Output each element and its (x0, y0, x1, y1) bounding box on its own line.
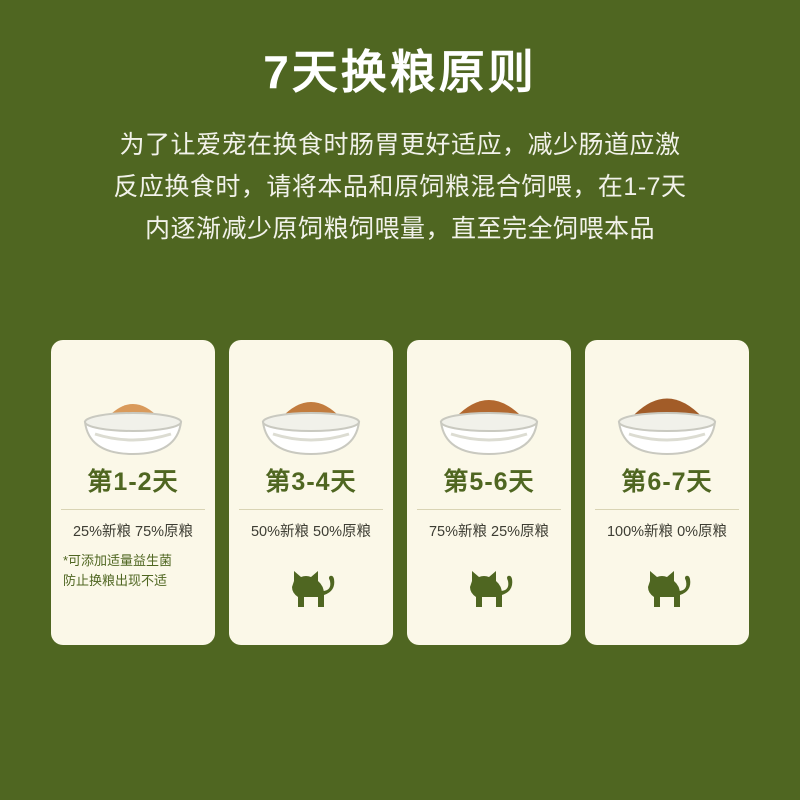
bowl-wrap (51, 340, 215, 468)
schedule-card: 第6-7天 100%新粮 0%原粮 (585, 340, 749, 645)
day-label: 第6-7天 (585, 470, 749, 495)
cat-wrap (229, 567, 393, 611)
ratio-label: 100%新粮 0%原粮 (595, 509, 739, 541)
day-label: 第1-2天 (51, 470, 215, 495)
cat-silhouette-icon (462, 567, 516, 611)
day-label: 第3-4天 (229, 470, 393, 495)
transition-schedule-cards: 第1-2天 25%新粮 75%原粮 *可添加适量益生菌防止换粮出现不适 第3-4… (0, 340, 800, 645)
food-bowl-icon (611, 384, 723, 460)
ratio-label: 25%新粮 75%原粮 (61, 509, 205, 541)
page-title: 7天换粮原则 (0, 44, 800, 102)
page-subtitle: 为了让爱宠在换食时肠胃更好适应，减少肠道应激反应换食时，请将本品和原饲粮混合饲喂… (110, 124, 690, 250)
card-note: *可添加适量益生菌防止换粮出现不适 (63, 551, 203, 591)
cat-silhouette-icon (284, 567, 338, 611)
bowl-wrap (229, 340, 393, 468)
food-bowl-icon (77, 384, 189, 460)
cat-wrap (585, 567, 749, 611)
ratio-label: 75%新粮 25%原粮 (417, 509, 561, 541)
food-bowl-icon (255, 384, 367, 460)
bowl-wrap (407, 340, 571, 468)
food-bowl-icon (433, 384, 545, 460)
promo-page: 7天换粮原则 为了让爱宠在换食时肠胃更好适应，减少肠道应激反应换食时，请将本品和… (0, 0, 800, 800)
schedule-card: 第3-4天 50%新粮 50%原粮 (229, 340, 393, 645)
page-header: 7天换粮原则 为了让爱宠在换食时肠胃更好适应，减少肠道应激反应换食时，请将本品和… (0, 0, 800, 250)
bowl-wrap (585, 340, 749, 468)
schedule-card: 第5-6天 75%新粮 25%原粮 (407, 340, 571, 645)
cat-silhouette-icon (640, 567, 694, 611)
cat-wrap (407, 567, 571, 611)
schedule-card: 第1-2天 25%新粮 75%原粮 *可添加适量益生菌防止换粮出现不适 (51, 340, 215, 645)
day-label: 第5-6天 (407, 470, 571, 495)
ratio-label: 50%新粮 50%原粮 (239, 509, 383, 541)
